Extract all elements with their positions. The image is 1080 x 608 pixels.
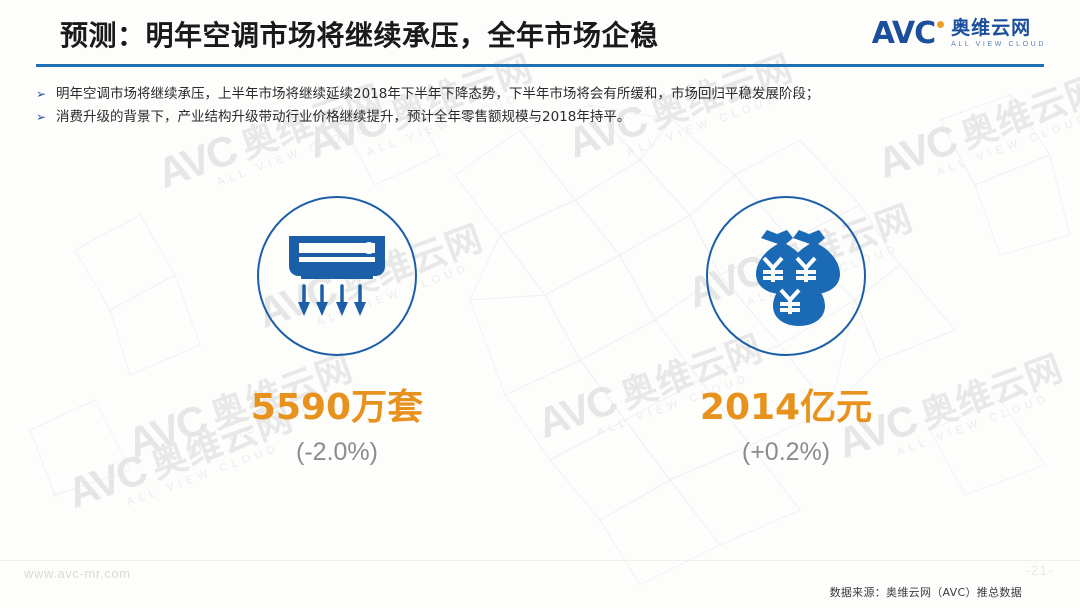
stat-block-revenue: 2014亿元 (+0.2%) xyxy=(636,196,936,467)
list-item: ➢ 消费升级的背景下，产业结构升级带动行业价格继续提升，预计全年零售额规模与20… xyxy=(36,107,1046,127)
stat-circle-revenue xyxy=(706,196,866,356)
stat-delta-volume: (-2.0%) xyxy=(187,438,487,467)
page-title: 预测：明年空调市场将继续承压，全年市场企稳 xyxy=(60,14,659,54)
stat-value-volume: 5590万套 xyxy=(187,378,487,430)
avc-logo: AVC 奥维云网 ALL VIEW CLOUD xyxy=(872,14,1046,54)
stat-circle-volume xyxy=(257,196,417,356)
logo-en-name: ALL VIEW CLOUD xyxy=(951,41,1046,49)
page-number: -21- xyxy=(1025,562,1054,578)
list-item: ➢ 明年空调市场将继续承压，上半年市场将继续延续2018年下半年下降态势，下半年… xyxy=(36,84,1046,104)
data-source-note: 数据来源：奥维云网（AVC）推总数据 xyxy=(830,584,1022,600)
slide-header: 预测：明年空调市场将继续承压，全年市场企稳 AVC 奥维云网 ALL VIEW … xyxy=(0,0,1080,66)
footer-url[interactable]: www.avc-mr.com xyxy=(24,566,131,581)
footer-divider xyxy=(0,560,1080,561)
slide-canvas: AVC奥维云网 ALL VIEW CLOUD AVC奥维云网 ALL VIEW … xyxy=(0,0,1080,608)
bullet-text: 消费升级的背景下，产业结构升级带动行业价格继续提升，预计全年零售额规模与2018… xyxy=(56,107,1046,127)
logo-mark-text: AVC xyxy=(872,19,935,49)
arrow-bullet-icon: ➢ xyxy=(36,84,56,104)
watermark-mark: AVC xyxy=(61,446,152,517)
stat-delta-revenue: (+0.2%) xyxy=(636,438,936,467)
orange-dot-icon xyxy=(937,21,944,28)
title-divider xyxy=(36,64,1044,67)
watermark-mark: AVC xyxy=(151,126,242,197)
watermark-mark: AVC xyxy=(531,376,622,447)
air-conditioner-icon xyxy=(285,230,389,322)
money-bags-icon xyxy=(731,226,841,326)
logo-wordmark: 奥维云网 ALL VIEW CLOUD xyxy=(951,19,1046,49)
stat-block-volume: 5590万套 (-2.0%) xyxy=(187,196,487,467)
stat-value-revenue: 2014亿元 xyxy=(636,378,936,430)
bullet-list: ➢ 明年空调市场将继续承压，上半年市场将继续延续2018年下半年下降态势，下半年… xyxy=(36,84,1046,130)
logo-mark-group: AVC xyxy=(872,19,944,49)
bullet-text: 明年空调市场将继续承压，上半年市场将继续延续2018年下半年下降态势，下半年市场… xyxy=(56,84,1046,104)
arrow-bullet-icon: ➢ xyxy=(36,107,56,127)
logo-cn-name: 奥维云网 xyxy=(951,19,1046,39)
